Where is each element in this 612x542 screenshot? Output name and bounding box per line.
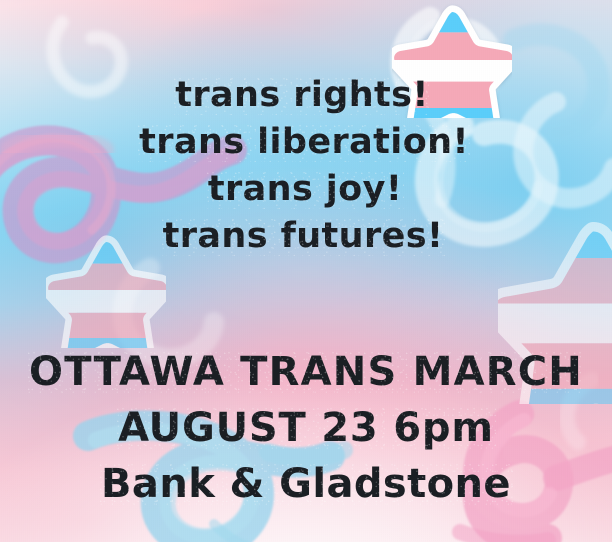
headline-line-3: trans joy!	[0, 172, 612, 207]
event-date-time: AUGUST 23 6pm	[0, 408, 612, 448]
trans-flag-star-mid-left	[46, 232, 166, 348]
headline-line-1-text: trans rights!	[175, 78, 429, 113]
white-ghost-swirl-top-left	[53, 22, 121, 92]
headline-line-4: trans futures!	[0, 219, 612, 254]
white-loop-swirl-top-right	[401, 18, 612, 235]
headline-line-4-text: trans futures!	[163, 219, 444, 254]
event-details-block: OTTAWA TRANS MARCH AUGUST 23 6pm Bank & …	[0, 352, 612, 504]
background-soften-overlay	[0, 0, 612, 542]
ottawa-trans-march-poster: trans rights! trans liberation! trans jo…	[0, 0, 612, 542]
trans-flag-star-top-right	[392, 2, 512, 118]
trans-flag-stripes-left	[46, 232, 166, 348]
event-location-text: Bank & Gladstone	[101, 464, 511, 504]
headline-line-2-text: trans liberation!	[139, 125, 469, 160]
faint-blue-swirl-upper-right	[514, 35, 598, 132]
headline-line-2: trans liberation!	[0, 125, 612, 160]
headline-line-3-text: trans joy!	[208, 172, 402, 207]
trans-flag-stripes-right	[498, 222, 612, 404]
pink-loop-swirl-left	[0, 138, 232, 249]
paper-grain-overlay	[0, 0, 612, 542]
brushstroke-decorations	[0, 0, 612, 542]
trans-flag-stripes-top	[392, 2, 512, 118]
blue-loop-swirl-bottom-center	[88, 426, 344, 542]
pale-swirl-mid-left	[122, 268, 214, 358]
event-location: Bank & Gladstone	[0, 464, 612, 504]
faint-swirl-right-bottom	[567, 380, 592, 442]
pale-pink-wash-left	[10, 138, 104, 150]
headline-line-1: trans rights!	[0, 78, 612, 113]
pink-loop-swirl-bottom-right	[460, 414, 612, 542]
event-name: OTTAWA TRANS MARCH	[0, 352, 612, 392]
trans-flag-star-right-edge	[498, 222, 612, 404]
event-date-time-text: AUGUST 23 6pm	[118, 408, 494, 448]
event-name-text: OTTAWA TRANS MARCH	[29, 352, 583, 392]
background-gradient	[0, 0, 612, 542]
headline-block: trans rights! trans liberation! trans jo…	[0, 78, 612, 254]
